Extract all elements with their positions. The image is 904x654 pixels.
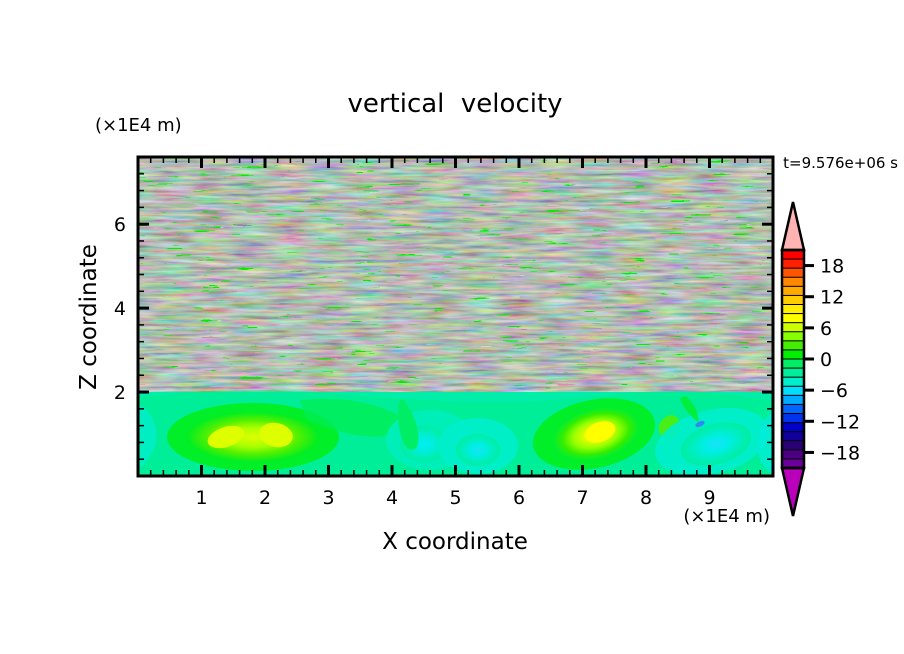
colorbar-over-arrow bbox=[782, 202, 804, 250]
svg-text:6: 6 bbox=[114, 214, 126, 236]
svg-text:0: 0 bbox=[820, 349, 832, 371]
gravity-wave-filaments bbox=[138, 157, 773, 405]
x-unit-label: (×1E4 m) bbox=[683, 506, 770, 527]
downdraft-lane-mid-right bbox=[438, 418, 518, 474]
svg-text:4: 4 bbox=[386, 487, 398, 509]
x-axis-label: X coordinate bbox=[382, 529, 528, 555]
svg-text:−18: −18 bbox=[820, 442, 860, 464]
page-title: vertical velocity bbox=[347, 89, 562, 119]
svg-text:7: 7 bbox=[576, 487, 588, 509]
svg-text:2: 2 bbox=[259, 487, 271, 509]
svg-text:5: 5 bbox=[449, 487, 461, 509]
svg-text:−12: −12 bbox=[820, 411, 860, 433]
svg-text:4: 4 bbox=[114, 298, 126, 320]
svg-text:12: 12 bbox=[820, 287, 844, 309]
colorbar-ticks bbox=[804, 266, 814, 453]
x-tick-labels: 123456789 bbox=[195, 487, 715, 509]
svg-text:1: 1 bbox=[195, 487, 207, 509]
plot-area[interactable]: 123456789 246 bbox=[114, 157, 776, 509]
svg-text:2: 2 bbox=[114, 382, 126, 404]
svg-text:6: 6 bbox=[513, 487, 525, 509]
colorbar-tick-labels: 181260−6−12−18 bbox=[820, 256, 860, 465]
y-tick-labels: 246 bbox=[114, 214, 126, 404]
y-axis-label: Z coordinate bbox=[76, 244, 102, 390]
colorbar[interactable]: 181260−6−12−18 bbox=[782, 202, 860, 516]
vertical-velocity-contour-figure: 123456789 246 vertical velocity (×1E4 m)… bbox=[0, 0, 904, 654]
colorbar-bands bbox=[782, 250, 804, 469]
svg-text:8: 8 bbox=[640, 487, 652, 509]
svg-text:18: 18 bbox=[820, 256, 844, 278]
colorbar-under-arrow bbox=[782, 468, 804, 516]
svg-text:3: 3 bbox=[322, 487, 334, 509]
y-unit-label: (×1E4 m) bbox=[95, 115, 182, 136]
time-annotation: t=9.576e+06 s bbox=[783, 154, 898, 172]
svg-text:6: 6 bbox=[820, 318, 832, 340]
svg-text:−6: −6 bbox=[820, 380, 848, 402]
